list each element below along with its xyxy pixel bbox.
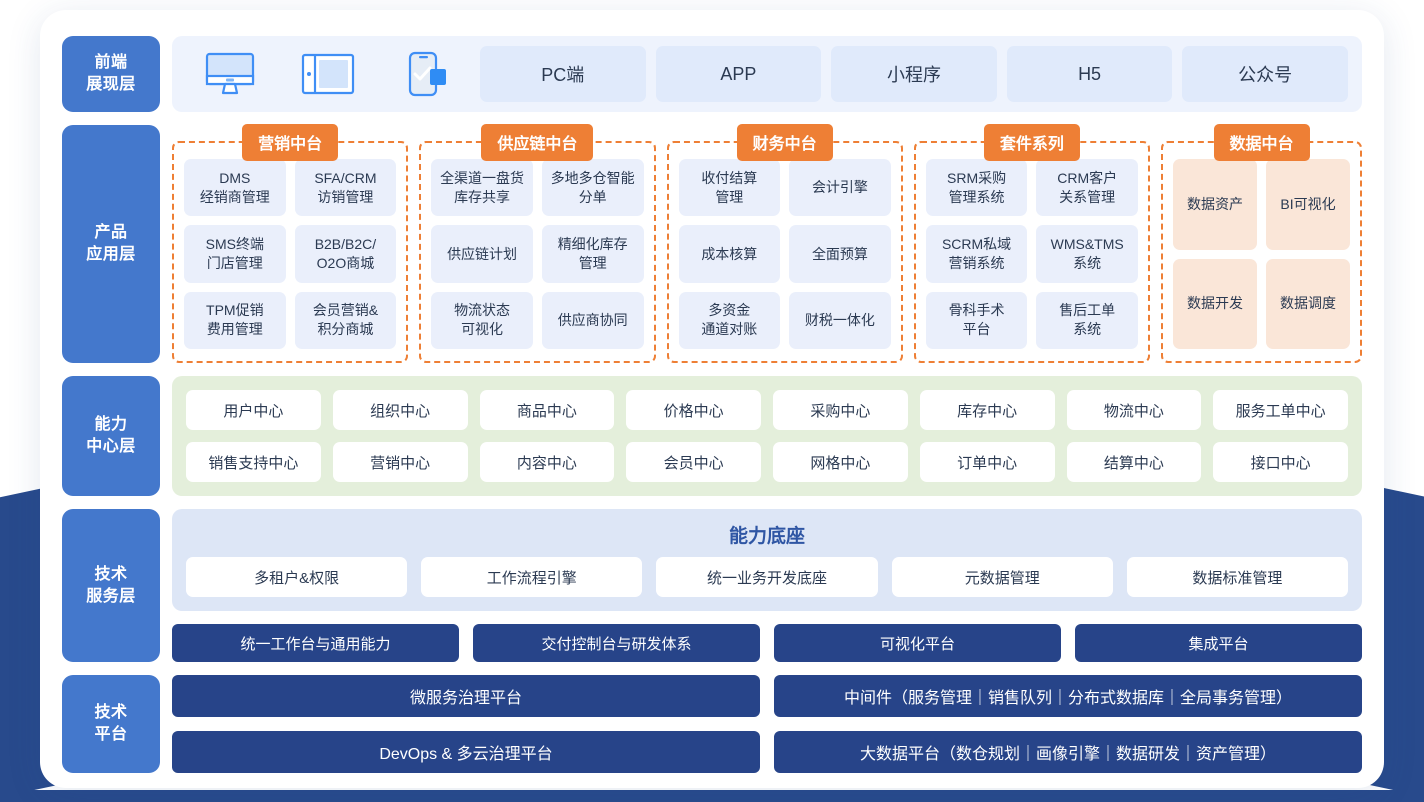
sidebar-label-line1: 技术 <box>86 564 136 586</box>
tech-service-chip[interactable]: 交付控制台与研发体系 <box>473 624 760 662</box>
product-cell[interactable]: 全渠道一盘货库存共享 <box>431 159 533 216</box>
channel-chip-app[interactable]: APP <box>656 46 822 102</box>
capability-panel: 用户中心 组织中心 商品中心 价格中心 采购中心 库存中心 物流中心 服务工单中… <box>172 376 1362 496</box>
base-chip[interactable]: 工作流程引擎 <box>421 557 642 597</box>
product-cell[interactable]: 精细化库存管理 <box>542 225 644 282</box>
group-body: 数据资产 BI可视化 数据开发 数据调度 <box>1161 141 1362 363</box>
group-title[interactable]: 套件系列 <box>984 124 1080 161</box>
capability-row-1: 用户中心 组织中心 商品中心 价格中心 采购中心 库存中心 物流中心 服务工单中… <box>186 390 1348 430</box>
product-cell[interactable]: 数据资产 <box>1173 159 1257 250</box>
base-chip[interactable]: 元数据管理 <box>892 557 1113 597</box>
tech-platform-chip[interactable]: 微服务治理平台 <box>172 675 760 717</box>
capability-chip[interactable]: 销售支持中心 <box>186 442 321 482</box>
capability-chip[interactable]: 网格中心 <box>773 442 908 482</box>
base-chip[interactable]: 数据标准管理 <box>1127 557 1348 597</box>
capability-chip[interactable]: 服务工单中心 <box>1213 390 1348 430</box>
channel-chip-miniapp[interactable]: 小程序 <box>831 46 997 102</box>
product-cell[interactable]: 数据开发 <box>1173 259 1257 350</box>
capability-chip[interactable]: 用户中心 <box>186 390 321 430</box>
capability-chip[interactable]: 物流中心 <box>1067 390 1202 430</box>
product-group-data: 数据中台 数据资产 BI可视化 数据开发 数据调度 <box>1161 125 1362 363</box>
frontend-content: PC端 APP 小程序 H5 公众号 <box>172 36 1362 112</box>
frontend-channel-bar: PC端 APP 小程序 H5 公众号 <box>172 36 1362 112</box>
tech-service-chip[interactable]: 统一工作台与通用能力 <box>172 624 459 662</box>
capability-chip[interactable]: 内容中心 <box>480 442 615 482</box>
capability-chip[interactable]: 结算中心 <box>1067 442 1202 482</box>
product-cell[interactable]: SCRM私域营销系统 <box>926 225 1028 282</box>
capability-base-title: 能力底座 <box>186 518 1348 557</box>
capability-chip[interactable]: 采购中心 <box>773 390 908 430</box>
tech-platform-grid-2: DevOps & 多云治理平台 大数据平台（数仓规划｜画像引擎｜数据研发｜资产管… <box>172 731 1362 773</box>
product-cell[interactable]: WMS&TMS系统 <box>1036 225 1138 282</box>
sidebar-item-frontend[interactable]: 前端 展现层 <box>62 36 160 112</box>
sidebar-label-line1: 能力 <box>86 414 136 436</box>
product-cell[interactable]: SMS终端门店管理 <box>184 225 286 282</box>
tech-platform-content: 微服务治理平台 中间件（服务管理｜销售队列｜分布式数据库｜全局事务管理） Dev… <box>172 675 1362 773</box>
product-cell[interactable]: 数据调度 <box>1266 259 1350 350</box>
product-content: 营销中台 DMS经销商管理 SFA/CRM访销管理 SMS终端门店管理 B2B/… <box>172 125 1362 363</box>
product-cell[interactable]: SFA/CRM访销管理 <box>295 159 397 216</box>
product-cell[interactable]: TPM促销费用管理 <box>184 292 286 349</box>
product-group-finance: 财务中台 收付结算管理 会计引擎 成本核算 全面预算 多资金通道对账 财税一体化 <box>667 125 903 363</box>
product-cell[interactable]: B2B/B2C/O2O商城 <box>295 225 397 282</box>
group-body: 全渠道一盘货库存共享 多地多仓智能分单 供应链计划 精细化库存管理 物流状态可视… <box>419 141 655 363</box>
product-group-supplychain: 供应链中台 全渠道一盘货库存共享 多地多仓智能分单 供应链计划 精细化库存管理 … <box>419 125 655 363</box>
capability-chip[interactable]: 订单中心 <box>920 442 1055 482</box>
capability-chip[interactable]: 库存中心 <box>920 390 1055 430</box>
sidebar-label-line2: 服务层 <box>86 586 136 608</box>
sidebar-label-line2: 平台 <box>94 724 127 746</box>
tech-platform-grid: 微服务治理平台 中间件（服务管理｜销售队列｜分布式数据库｜全局事务管理） <box>172 675 1362 717</box>
group-body: SRM采购管理系统 CRM客户关系管理 SCRM私域营销系统 WMS&TMS系统… <box>914 141 1150 363</box>
product-cell[interactable]: 成本核算 <box>679 225 781 282</box>
group-title[interactable]: 数据中台 <box>1213 124 1309 161</box>
channel-chip-pc[interactable]: PC端 <box>480 46 646 102</box>
product-cell[interactable]: 多地多仓智能分单 <box>542 159 644 216</box>
group-body: 收付结算管理 会计引擎 成本核算 全面预算 多资金通道对账 财税一体化 <box>667 141 903 363</box>
group-title[interactable]: 财务中台 <box>737 124 833 161</box>
group-cell-grid: 数据资产 BI可视化 数据开发 数据调度 <box>1173 159 1350 349</box>
product-cell[interactable]: DMS经销商管理 <box>184 159 286 216</box>
sidebar-label-line2: 中心层 <box>86 436 136 458</box>
capability-chip[interactable]: 会员中心 <box>626 442 761 482</box>
tech-platform-chip[interactable]: DevOps & 多云治理平台 <box>172 731 760 773</box>
product-cell[interactable]: BI可视化 <box>1266 159 1350 250</box>
mobile-phone-check-icon <box>382 46 470 102</box>
layer-row-product: 产品 应用层 营销中台 DMS经销商管理 SFA/CRM访销管理 SMS终端门店… <box>62 125 1362 363</box>
product-cell[interactable]: 多资金通道对账 <box>679 292 781 349</box>
product-cell[interactable]: 收付结算管理 <box>679 159 781 216</box>
product-cell[interactable]: 会员营销&积分商城 <box>295 292 397 349</box>
product-cell[interactable]: 物流状态可视化 <box>431 292 533 349</box>
group-cell-grid: DMS经销商管理 SFA/CRM访销管理 SMS终端门店管理 B2B/B2C/O… <box>184 159 396 349</box>
sidebar-item-tech-service[interactable]: 技术 服务层 <box>62 509 160 662</box>
layer-row-tech-platform: 技术 平台 微服务治理平台 中间件（服务管理｜销售队列｜分布式数据库｜全局事务管… <box>62 675 1362 773</box>
tech-service-chip[interactable]: 可视化平台 <box>774 624 1061 662</box>
channel-chip-h5[interactable]: H5 <box>1007 46 1173 102</box>
capability-chip[interactable]: 营销中心 <box>333 442 468 482</box>
group-cell-grid: 收付结算管理 会计引擎 成本核算 全面预算 多资金通道对账 财税一体化 <box>679 159 891 349</box>
sidebar-label-line1: 前端 <box>86 52 136 74</box>
group-title[interactable]: 供应链中台 <box>481 124 593 161</box>
tech-service-chip[interactable]: 集成平台 <box>1075 624 1362 662</box>
product-group-suite: 套件系列 SRM采购管理系统 CRM客户关系管理 SCRM私域营销系统 WMS&… <box>914 125 1150 363</box>
product-cell[interactable]: 售后工单系统 <box>1036 292 1138 349</box>
product-cell[interactable]: 全面预算 <box>789 225 891 282</box>
tech-platform-chip[interactable]: 中间件（服务管理｜销售队列｜分布式数据库｜全局事务管理） <box>774 675 1362 717</box>
architecture-diagram: 前端 展现层 <box>0 0 1424 802</box>
sidebar-label-line1: 产品 <box>86 222 136 244</box>
decorative-navy-bar-bottom <box>0 790 1424 802</box>
capability-base-panel: 能力底座 多租户&权限 工作流程引擎 统一业务开发底座 元数据管理 数据标准管理 <box>172 509 1362 611</box>
layer-row-capability: 能力 中心层 用户中心 组织中心 商品中心 价格中心 采购中心 库存中心 物流中… <box>62 376 1362 496</box>
capability-chip[interactable]: 价格中心 <box>626 390 761 430</box>
group-cell-grid: 全渠道一盘货库存共享 多地多仓智能分单 供应链计划 精细化库存管理 物流状态可视… <box>431 159 643 349</box>
tech-platform-chip[interactable]: 大数据平台（数仓规划｜画像引擎｜数据研发｜资产管理） <box>774 731 1362 773</box>
product-cell[interactable]: 会计引擎 <box>789 159 891 216</box>
diagram-card: 前端 展现层 <box>40 10 1384 788</box>
sidebar-item-capability[interactable]: 能力 中心层 <box>62 376 160 496</box>
product-cell[interactable]: 供应商协同 <box>542 292 644 349</box>
capability-content: 用户中心 组织中心 商品中心 价格中心 采购中心 库存中心 物流中心 服务工单中… <box>172 376 1362 496</box>
group-title[interactable]: 营销中台 <box>242 124 338 161</box>
capability-row-2: 销售支持中心 营销中心 内容中心 会员中心 网格中心 订单中心 结算中心 接口中… <box>186 442 1348 482</box>
sidebar-label-line2: 展现层 <box>86 74 136 96</box>
tablet-icon <box>284 46 372 102</box>
desktop-monitor-icon <box>186 46 274 102</box>
capability-chip[interactable]: 商品中心 <box>480 390 615 430</box>
product-cell[interactable]: CRM客户关系管理 <box>1036 159 1138 216</box>
layer-row-frontend: 前端 展现层 <box>62 36 1362 112</box>
capability-chip[interactable]: 接口中心 <box>1213 442 1348 482</box>
sidebar-item-tech-platform[interactable]: 技术 平台 <box>62 675 160 773</box>
sidebar-label-line1: 技术 <box>94 702 127 724</box>
sidebar-item-product[interactable]: 产品 应用层 <box>62 125 160 363</box>
product-cell[interactable]: 供应链计划 <box>431 225 533 282</box>
capability-base-row: 多租户&权限 工作流程引擎 统一业务开发底座 元数据管理 数据标准管理 <box>186 557 1348 597</box>
product-group-list: 营销中台 DMS经销商管理 SFA/CRM访销管理 SMS终端门店管理 B2B/… <box>172 125 1362 363</box>
product-cell[interactable]: 财税一体化 <box>789 292 891 349</box>
channel-chip-official[interactable]: 公众号 <box>1182 46 1348 102</box>
layer-row-tech-service: 技术 服务层 能力底座 多租户&权限 工作流程引擎 统一业务开发底座 元数据管理… <box>62 509 1362 662</box>
base-chip[interactable]: 统一业务开发底座 <box>656 557 877 597</box>
tech-service-platform-row: 统一工作台与通用能力 交付控制台与研发体系 可视化平台 集成平台 <box>172 624 1362 662</box>
group-cell-grid: SRM采购管理系统 CRM客户关系管理 SCRM私域营销系统 WMS&TMS系统… <box>926 159 1138 349</box>
sidebar-label-line2: 应用层 <box>86 244 136 266</box>
base-chip[interactable]: 多租户&权限 <box>186 557 407 597</box>
tech-service-content: 能力底座 多租户&权限 工作流程引擎 统一业务开发底座 元数据管理 数据标准管理… <box>172 509 1362 662</box>
capability-chip[interactable]: 组织中心 <box>333 390 468 430</box>
product-cell[interactable]: SRM采购管理系统 <box>926 159 1028 216</box>
product-group-marketing: 营销中台 DMS经销商管理 SFA/CRM访销管理 SMS终端门店管理 B2B/… <box>172 125 408 363</box>
group-body: DMS经销商管理 SFA/CRM访销管理 SMS终端门店管理 B2B/B2C/O… <box>172 141 408 363</box>
product-cell[interactable]: 骨科手术平台 <box>926 292 1028 349</box>
